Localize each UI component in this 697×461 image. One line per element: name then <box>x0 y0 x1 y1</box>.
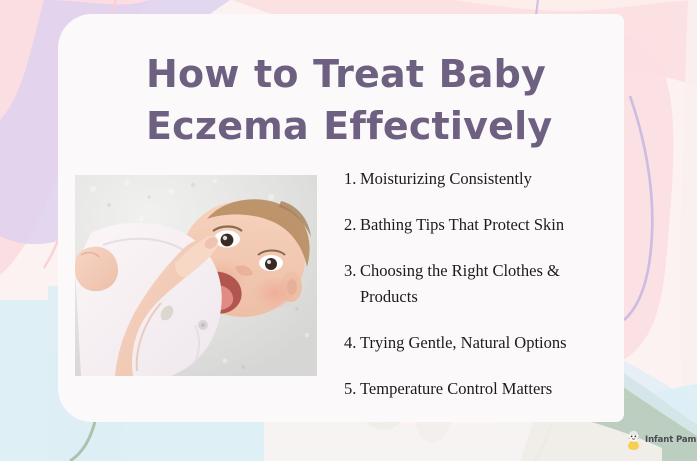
list-item-text: Bathing Tips That Protect Skin <box>360 212 606 238</box>
baby-mascot-icon <box>626 430 641 450</box>
list-item-text: Choosing the Right Clothes & Products <box>360 258 606 310</box>
steps-list: 1. Moisturizing Consistently 2. Bathing … <box>344 166 606 402</box>
list-item-number: 3. <box>344 258 360 284</box>
brand-watermark: Infant Pamper <box>626 430 697 450</box>
list-item-number: 1. <box>344 166 360 192</box>
list-item-number: 4. <box>344 330 360 356</box>
list-item-text: Moisturizing Consistently <box>360 166 606 192</box>
list-item-number: 2. <box>344 212 360 238</box>
page-title: How to Treat Baby Eczema Effectively <box>146 48 566 153</box>
list-item: 4. Trying Gentle, Natural Options <box>344 330 606 356</box>
list-item: 1. Moisturizing Consistently <box>344 166 606 192</box>
list-item: 5. Temperature Control Matters <box>344 376 606 402</box>
list-item: 2. Bathing Tips That Protect Skin <box>344 212 606 238</box>
baby-cheek-flush-right <box>253 276 297 310</box>
list-item: 3. Choosing the Right Clothes & Products <box>344 258 606 310</box>
baby-hand <box>75 247 118 292</box>
decor-blob-blue-bottomleft <box>0 300 48 461</box>
list-item-text: Temperature Control Matters <box>360 376 606 402</box>
list-item-number: 5. <box>344 376 360 402</box>
infographic-canvas: How to Treat Baby Eczema Effectively <box>0 0 697 461</box>
list-item-text: Trying Gentle, Natural Options <box>360 330 606 356</box>
baby-photo <box>75 175 317 376</box>
baby-photo-illustration <box>75 175 317 376</box>
brand-name: Infant Pamper <box>645 435 697 445</box>
